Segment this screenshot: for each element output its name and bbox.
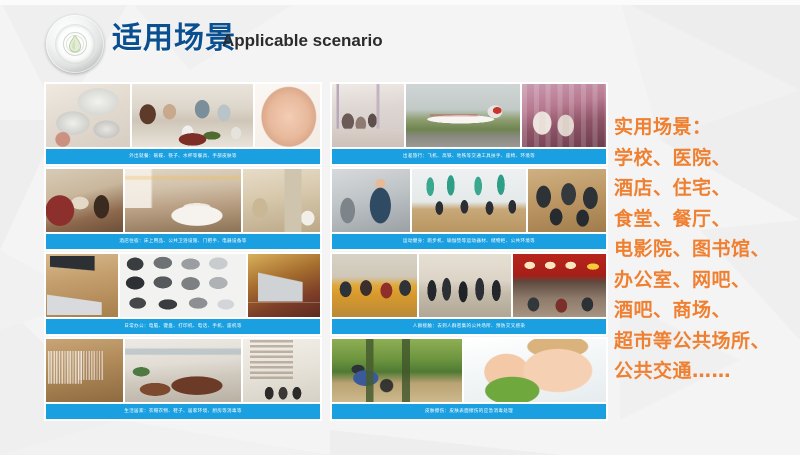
grid-row: 生活居家：衣帽衣物、鞋子、居家环境、厨房等消毒等 皮肤擦伤：皮肤表面擦伤的应	[44, 337, 608, 421]
thumb-strip	[46, 254, 320, 317]
scenario-line: 办公室、网吧、	[614, 265, 800, 296]
thumb-living-room-interior-sofa	[125, 339, 241, 402]
thumb-airplane-on-runway	[406, 84, 520, 147]
slide-root: 适用场景 Applicable scenario	[0, 0, 800, 455]
page-title-cn: 适用场景	[112, 22, 236, 56]
thumb-walk-in-wardrobe-closet	[46, 339, 123, 402]
scenario-line: 公共交通……	[614, 356, 800, 387]
scenario-line: 酒店、住宅、	[614, 173, 800, 204]
thumb-shoe-rack-storage-cabinet	[243, 339, 320, 402]
scenario-line: 超市等公共场所、	[614, 326, 800, 357]
scenario-block[interactable]: 日常办公：电脑、键盘、打印机、电话、手机、座机等	[44, 252, 322, 336]
block-caption: 酒店住宿：床上用品、公共卫浴设施、门把手、电器设备等	[46, 234, 320, 249]
scenario-line: 食堂、餐厅、	[614, 204, 800, 235]
grid-row: 外出就餐：碗碟、筷子、水杯等餐具、手部皮肤等	[44, 82, 608, 166]
slide-header: 适用场景 Applicable scenario	[0, 0, 800, 78]
scenario-block[interactable]: 人群接触：去到人群密集的公共场所、预防交叉感染	[330, 252, 608, 336]
thumb-printers-and-office-devices-collage	[120, 254, 246, 317]
block-caption: 外出就餐：碗碟、筷子、水杯等餐具、手部皮肤等	[46, 149, 320, 164]
scenario-block[interactable]: 生活居家：衣帽衣物、鞋子、居家环境、厨房等消毒等	[44, 337, 322, 421]
thumb-family-dining-at-table	[132, 84, 253, 147]
block-caption: 出差旅行：飞机、高铁、地铁等交通工具扶手、座椅、环境等	[332, 149, 606, 164]
scenario-block[interactable]: 酒店住宿：床上用品、公共卫浴设施、门把手、电器设备等	[44, 167, 322, 251]
scenario-line: 酒吧、商场、	[614, 295, 800, 326]
scenario-block[interactable]: 运动健身：跑步机、瑜伽垫等运动器材、储物柜、公共环境等	[330, 167, 608, 251]
block-caption: 日常办公：电脑、键盘、打印机、电话、手机、座机等	[46, 319, 320, 334]
thumb-clean-hands-closeup	[255, 84, 320, 147]
scenario-heading: 实用场景：	[614, 112, 800, 143]
thumb-strip	[332, 254, 606, 317]
scenario-text-list: 实用场景： 学校、医院、 酒店、住宅、 食堂、餐厅、 电影院、图书馆、 办公室、…	[614, 112, 800, 387]
thumb-strip	[332, 84, 606, 147]
thumb-strip	[46, 169, 320, 232]
thumb-laptop-on-wooden-desk	[46, 254, 118, 317]
thumb-strip	[332, 169, 606, 232]
block-caption: 皮肤擦伤：皮肤表面擦伤的应急消毒处理	[332, 404, 606, 419]
thumb-aerial-yoga-studio-class	[412, 169, 525, 232]
page-title-en: Applicable scenario	[222, 30, 383, 52]
block-caption: 运动健身：跑步机、瑜伽垫等运动器材、储物柜、公共环境等	[332, 234, 606, 249]
thumb-gym-treadmill-woman-exercising	[332, 169, 410, 232]
scenario-block[interactable]: 皮肤擦伤：皮肤表面擦伤的应急消毒处理	[330, 337, 608, 421]
thumb-strip	[332, 339, 606, 402]
scenario-block[interactable]: 外出就餐：碗碟、筷子、水杯等餐具、手部皮肤等	[44, 82, 322, 166]
logo-badge	[46, 15, 104, 73]
thumb-train-cabin-seats-interior	[522, 84, 606, 147]
thumb-hotel-lounge-seating-area	[46, 169, 123, 232]
water-droplet-leaf-icon	[55, 24, 95, 64]
thumb-child-sneezing-into-arm	[464, 339, 606, 402]
scenario-line: 电影院、图书馆、	[614, 234, 800, 265]
thumb-hotel-bathroom	[243, 169, 320, 232]
thumb-market-storefront-red-sign	[513, 254, 606, 317]
thumb-group-fitness-class-floor	[528, 169, 606, 232]
thumb-hotel-bedroom-suite	[125, 169, 241, 232]
thumb-cookware-pots-and-bowls	[46, 84, 130, 147]
thumb-canteen-cafeteria-dining-crowd	[332, 254, 417, 317]
block-caption: 生活居家：衣帽衣物、鞋子、居家环境、厨房等消毒等	[46, 404, 320, 419]
grid-row: 酒店住宿：床上用品、公共卫浴设施、门把手、电器设备等	[44, 167, 608, 251]
thumb-station-waiting-hall-crowd	[419, 254, 512, 317]
thumb-strip	[46, 84, 320, 147]
thumb-subway-train-interior-passengers	[332, 84, 404, 147]
grid-row: 日常办公：电脑、键盘、打印机、电话、手机、座机等	[44, 252, 608, 336]
thumb-child-bicycle-fall-injury	[332, 339, 462, 402]
thumb-laptop-on-leather-surface	[248, 254, 320, 317]
scenario-image-grid: 外出就餐：碗碟、筷子、水杯等餐具、手部皮肤等	[44, 82, 608, 420]
block-caption: 人群接触：去到人群密集的公共场所、预防交叉感染	[332, 319, 606, 334]
scenario-line: 学校、医院、	[614, 143, 800, 174]
thumb-strip	[46, 339, 320, 402]
scenario-block[interactable]: 出差旅行：飞机、高铁、地铁等交通工具扶手、座椅、环境等	[330, 82, 608, 166]
